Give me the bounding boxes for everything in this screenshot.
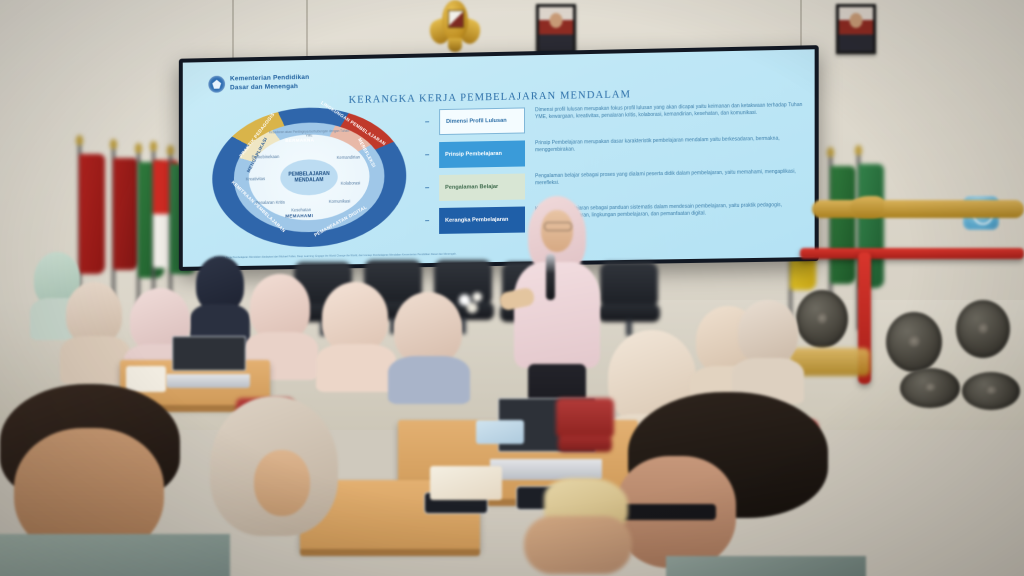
paragraph-pengalaman-belajar: Pengalaman belajar sebagai proses yang d… [535,168,805,186]
foreground-man-right [606,392,866,576]
gong [886,312,942,372]
foreground-man-left [0,384,230,576]
microphone [546,254,555,300]
vice-presidential-portrait [836,4,876,54]
tag-prinsip-pembelajaran: Prinsip Pembelajaran [439,140,525,168]
gamelan-dragon-head [850,196,884,218]
slide-row: Dimensi Profil Lulusan Dimensi profil lu… [425,102,805,135]
presenter-blazer [514,262,600,368]
gong-kettle [900,368,960,408]
presenter-face [541,210,573,252]
participant [316,282,396,386]
slide-title: KERANGKA KERJA PEMBELAJARAN MENDALAM [349,89,631,106]
slide-row: Kerangka Pembelajaran Kerangka Pembelaja… [425,202,805,234]
gamelan-dragon-carving [812,200,1024,218]
batik-shirt [0,534,230,576]
ministry-emblem-icon [208,76,225,93]
gong [956,300,1010,358]
bullet-dash-icon [425,154,429,155]
slide-row: Pengalaman Belajar Pengalaman belajar se… [425,168,805,201]
gamelan-rack-bar [800,248,1024,259]
laptop[interactable] [172,336,244,388]
inner-item-5: Komunikasi [329,199,350,204]
inner-item-6: Kesehatan [291,207,311,212]
slide-text-column: Dimensi Profil Lulusan Dimensi profil lu… [425,102,805,241]
participant [388,292,470,398]
shirt [666,556,866,576]
foreground-hand [524,462,644,576]
inner-item-1: Kemandirian [337,155,360,160]
inner-item-3: Kolaborasi [341,180,361,185]
ministry-logo-block: Kementerian Pendidikan Dasar dan Menenga… [208,74,309,93]
inner-item-0: Berkebinekaan [252,154,280,159]
notebook [430,466,502,500]
bullet-dash-icon [425,220,429,221]
paragraph-prinsip-pembelajaran: Prinsip Pembelajaran merupakan dasar kar… [535,135,805,153]
gong-kettle [962,372,1020,410]
inner-item-4: Penalaran Kritis [256,200,285,205]
presentation-screen[interactable]: Kementerian Pendidikan Dasar dan Menenga… [179,45,819,271]
notebook [476,420,524,444]
eyeglasses [544,222,572,231]
bullet-dash-icon [425,121,429,122]
participant [732,300,804,400]
presidential-portrait [536,4,576,54]
ministry-line-2: Dasar dan Menengah [230,82,309,92]
diagram-inner-note: Kesadaran akan Pentingnya berhubungan de… [266,129,351,139]
bullet-dash-icon [425,187,429,188]
tag-dimensi-profil-lulusan: Dimensi Profil Lulusan [439,107,525,135]
slide-row: Prinsip Pembelajaran Prinsip Pembelajara… [425,135,805,168]
participant [244,274,318,374]
slide-content: Kementerian Pendidikan Dasar dan Menenga… [183,49,815,267]
learning-framework-diagram: PEMBELAJARAN MENDALAM PRAKTIK PEDAGOGIS … [212,106,406,249]
inner-item-2: Kreativitas [246,176,265,181]
paragraph-dimensi-profil-lulusan: Dimensi profil lulusan merupakan fokus p… [535,102,805,121]
garuda-pancasila-emblem [432,0,478,54]
participant [190,256,250,342]
ring-label-memahami: MEMAHAMI [285,213,313,218]
conference-room-photo: Kementerian Pendidikan Dasar dan Menenga… [0,0,1024,576]
